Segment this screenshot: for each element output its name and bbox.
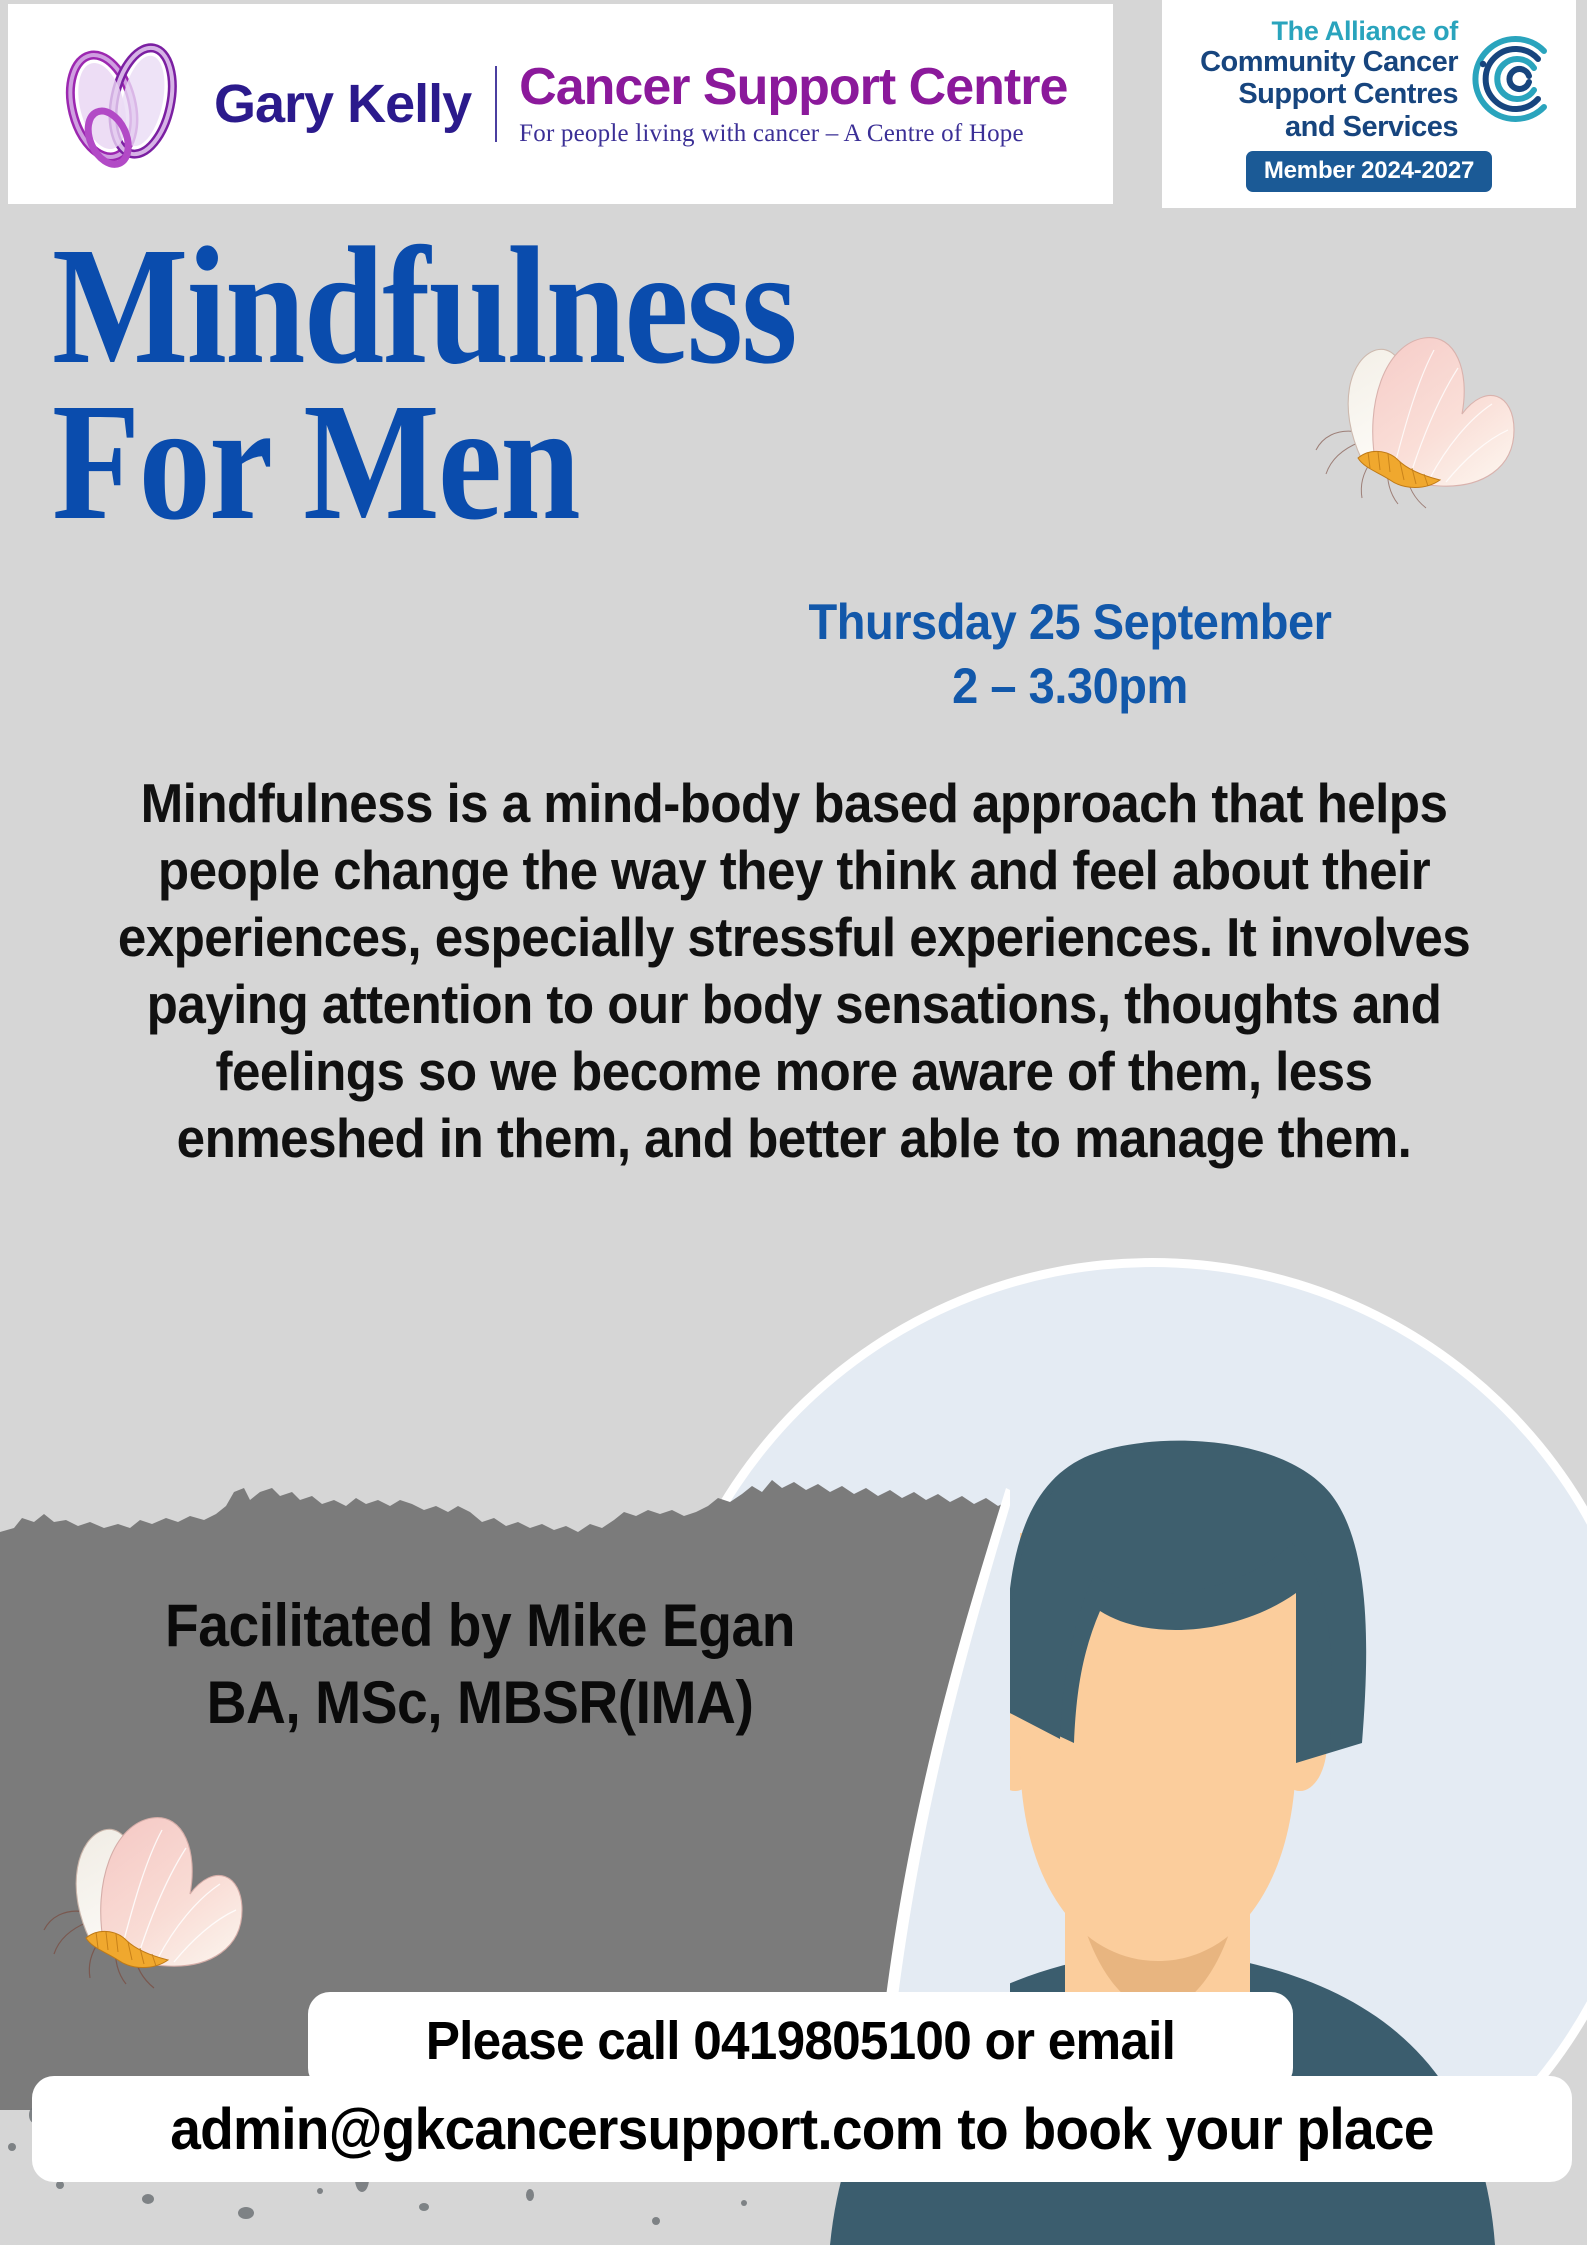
facilitator-credentials: BA, MSc, MBSR(IMA)	[57, 1665, 903, 1742]
logo-tagline: For people living with cancer – A Centre…	[519, 120, 1067, 148]
page-title: Mindfulness For Men	[52, 228, 1084, 540]
alliance-c-swirl-icon	[1466, 31, 1562, 127]
alliance-line-2b: Support Centres	[1176, 78, 1458, 110]
event-datetime: Thursday 25 September 2 – 3.30pm	[628, 590, 1512, 718]
gary-kelly-butterfly-icon	[48, 29, 198, 179]
butterfly-icon-top	[1300, 310, 1530, 520]
contact-line-1-text: Please call 0419805100 or email	[426, 2010, 1175, 2072]
butterfly-icon-bottom	[28, 1790, 258, 2000]
gary-kelly-logo-card: Gary Kelly Cancer Support Centre For peo…	[8, 4, 1113, 204]
headline-line-1: Mindfulness	[52, 228, 1084, 384]
poster-canvas: Gary Kelly Cancer Support Centre For peo…	[0, 0, 1587, 2245]
alliance-line-2c: and Services	[1176, 111, 1458, 143]
alliance-line-2a: Community Cancer	[1176, 46, 1458, 78]
headline-line-2: For Men	[52, 384, 1084, 540]
event-date: Thursday 25 September	[628, 590, 1512, 654]
logo-gary-kelly-name: Gary Kelly	[214, 73, 495, 135]
facilitator-name: Facilitated by Mike Egan	[57, 1588, 903, 1665]
facilitator-block: Facilitated by Mike Egan BA, MSc, MBSR(I…	[57, 1588, 903, 1742]
alliance-member-badge: Member 2024-2027	[1246, 151, 1492, 192]
alliance-logo-card: The Alliance of Community Cancer Support…	[1162, 0, 1576, 208]
contact-line-2-text: admin@gkcancersupport.com to book your p…	[170, 2096, 1433, 2163]
body-paragraph: Mindfulness is a mind-body based approac…	[87, 770, 1501, 1173]
contact-line-email[interactable]: admin@gkcancersupport.com to book your p…	[32, 2076, 1572, 2182]
event-time: 2 – 3.30pm	[628, 654, 1512, 718]
logo-centre-name: Cancer Support Centre	[519, 60, 1067, 115]
alliance-line-1: The Alliance of	[1176, 16, 1458, 46]
